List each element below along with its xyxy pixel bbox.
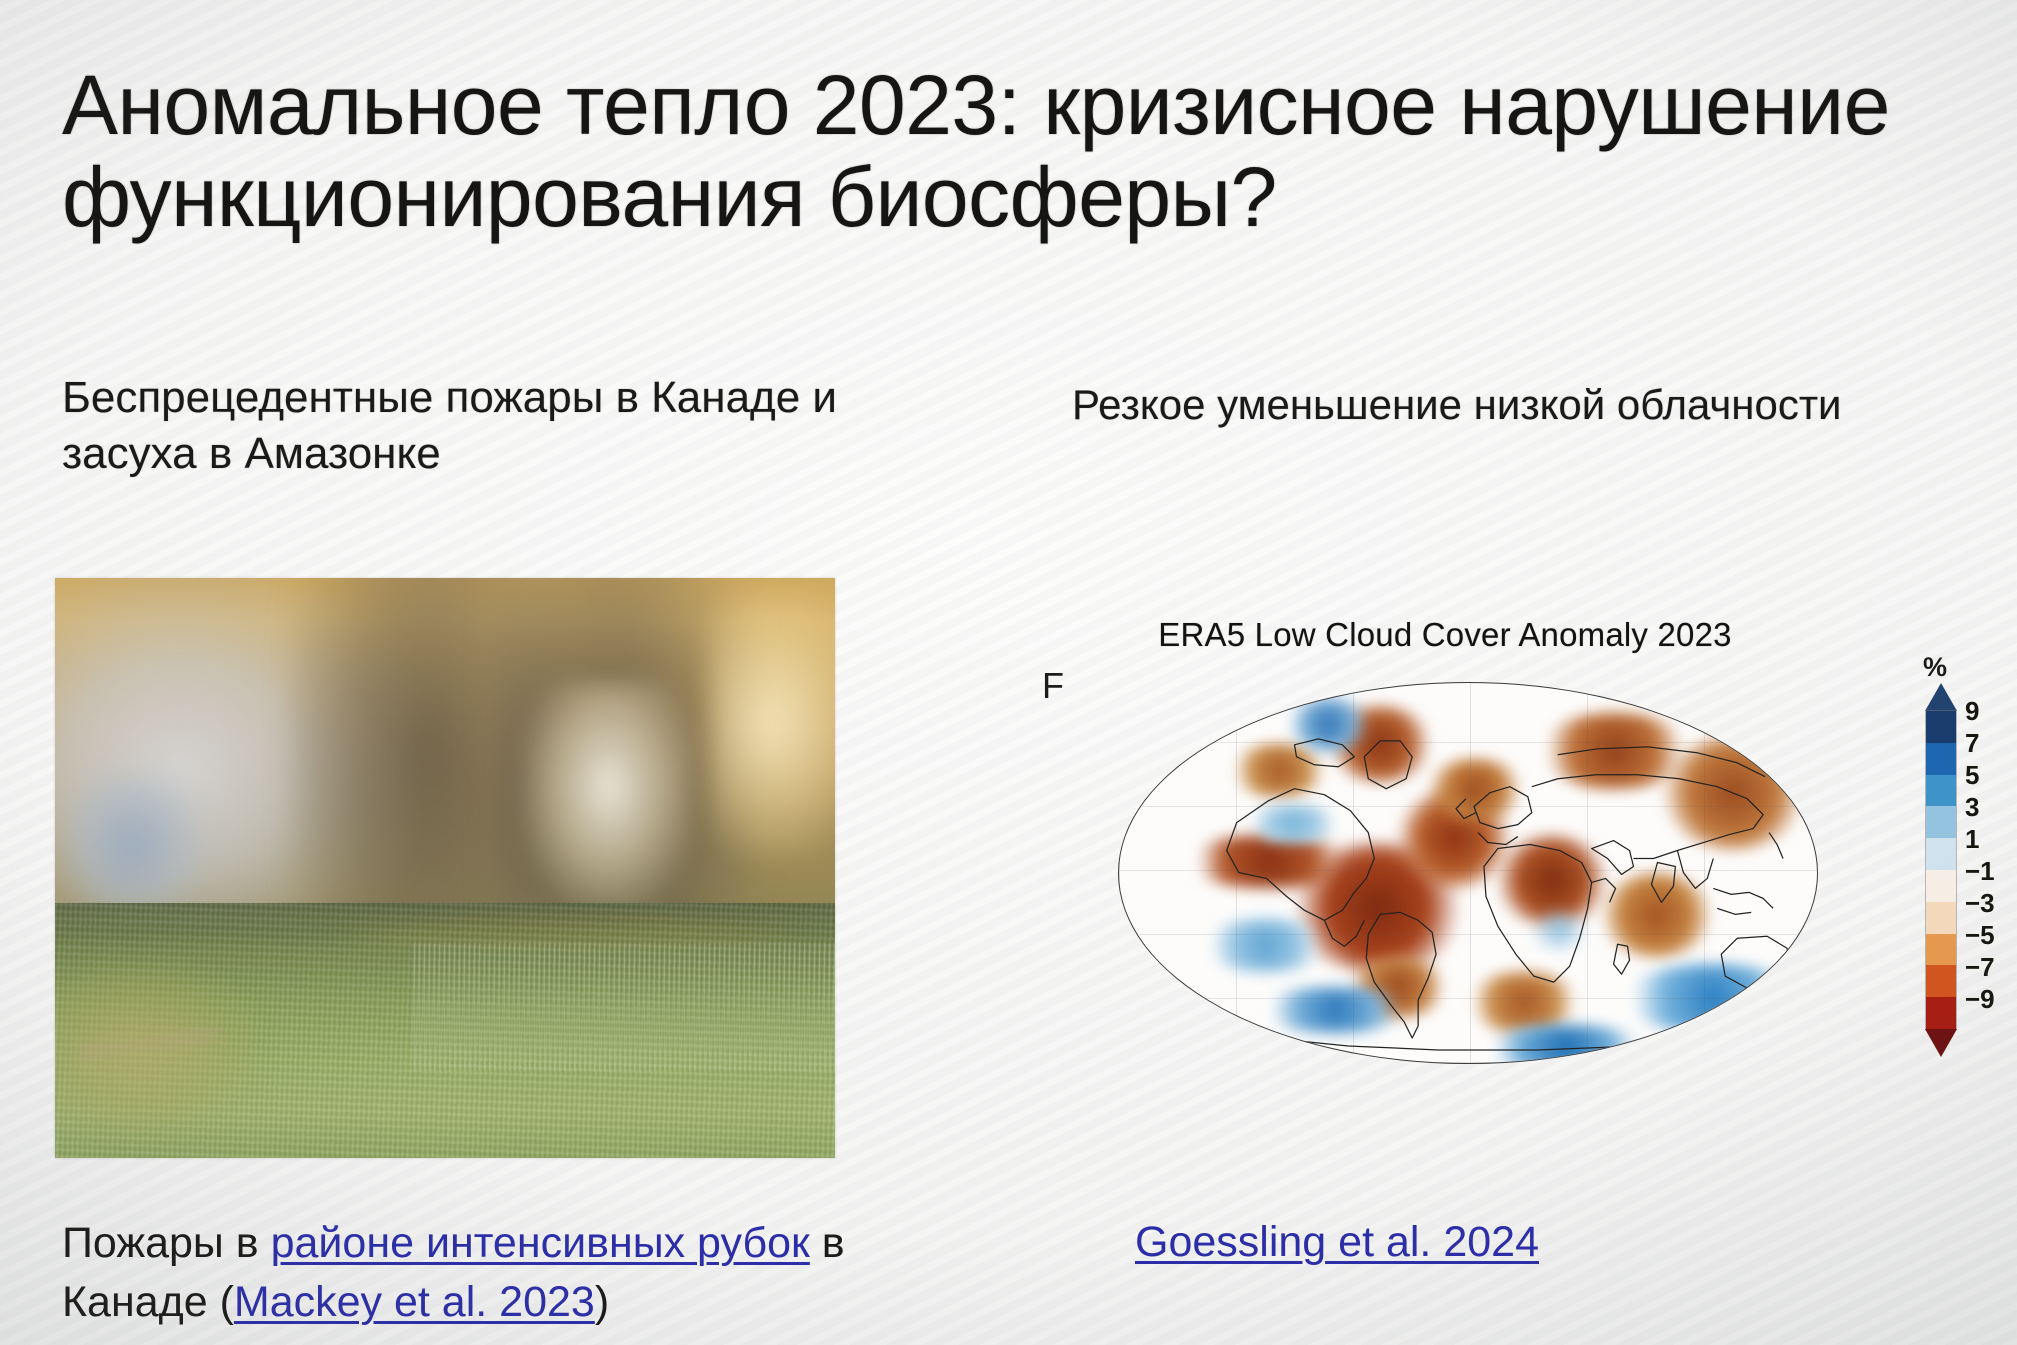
right-column-subtitle: Резкое уменьшение низкой облачности xyxy=(1072,378,2017,432)
colorbar-band-neg1 xyxy=(1926,870,1956,902)
presentation-slide: Аномальное тепло 2023: кризисное нарушен… xyxy=(0,0,2017,1345)
colorbar-unit-label: % xyxy=(1923,652,1947,683)
colorbar-band-7 xyxy=(1926,743,1956,775)
figure-panel-label: F xyxy=(1042,665,1064,707)
caption-link-logging-area[interactable]: районе интенсивных рубок xyxy=(271,1219,810,1267)
caption-text-prefix: Пожары в xyxy=(62,1219,271,1267)
colorbar-band-1 xyxy=(1926,838,1956,870)
colorbar-tick: −3 xyxy=(1965,890,1995,922)
colorbar-tick: 5 xyxy=(1965,762,1995,794)
colorbar-tick: −9 xyxy=(1965,986,1995,1018)
colorbar-tick: −5 xyxy=(1965,922,1995,954)
colorbar-band-neg9 xyxy=(1926,997,1956,1029)
figure-title: ERA5 Low Cloud Cover Anomaly 2023 xyxy=(1030,616,1860,654)
colorbar-band-5 xyxy=(1926,775,1956,807)
colorbar: % 9 7 5 3 1 −1 −3 −5 −7 −9 xyxy=(1925,710,1963,1030)
photo-blue-haze xyxy=(63,769,203,920)
colorbar-band-neg5 xyxy=(1926,934,1956,966)
globe-ellipse xyxy=(1118,682,1818,1064)
wildfire-photo xyxy=(55,578,835,1158)
left-caption: Пожары в районе интенсивных рубок в Кана… xyxy=(62,1214,922,1333)
photo-bright-cloud-edge xyxy=(710,590,835,857)
colorbar-tick: 7 xyxy=(1965,730,1995,762)
colorbar-band-9 xyxy=(1926,711,1956,743)
colorbar-tick: −7 xyxy=(1965,954,1995,986)
photo-tree-trunks xyxy=(414,943,835,1071)
colorbar-band-neg3 xyxy=(1926,902,1956,934)
colorbar-tick: 1 xyxy=(1965,826,1995,858)
caption-link-mackey-2023[interactable]: Mackey et al. 2023 xyxy=(234,1278,595,1326)
colorbar-tick: 3 xyxy=(1965,794,1995,826)
colorbar-tick: 9 xyxy=(1965,698,1995,730)
colorbar-band-3 xyxy=(1926,806,1956,838)
right-caption: Goessling et al. 2024 xyxy=(1135,1218,1539,1267)
global-map xyxy=(1118,682,1818,1064)
left-column-subtitle: Беспрецедентные пожары в Канаде и засуха… xyxy=(62,370,852,483)
colorbar-gradient xyxy=(1925,710,1957,1030)
caption-link-goessling-2024[interactable]: Goessling et al. 2024 xyxy=(1135,1218,1539,1266)
colorbar-ticks: 9 7 5 3 1 −1 −3 −5 −7 −9 xyxy=(1965,698,1995,1018)
map-coastlines xyxy=(1119,683,1817,1064)
colorbar-tick: −1 xyxy=(1965,858,1995,890)
cloud-cover-figure: F ERA5 Low Cloud Cover Anomaly 2023 xyxy=(1030,630,1990,1080)
colorbar-band-neg7 xyxy=(1926,965,1956,997)
caption-text-suffix: ) xyxy=(595,1278,609,1326)
slide-title: Аномальное тепло 2023: кризисное нарушен… xyxy=(62,60,1962,243)
photo-bright-cloud xyxy=(523,682,695,914)
